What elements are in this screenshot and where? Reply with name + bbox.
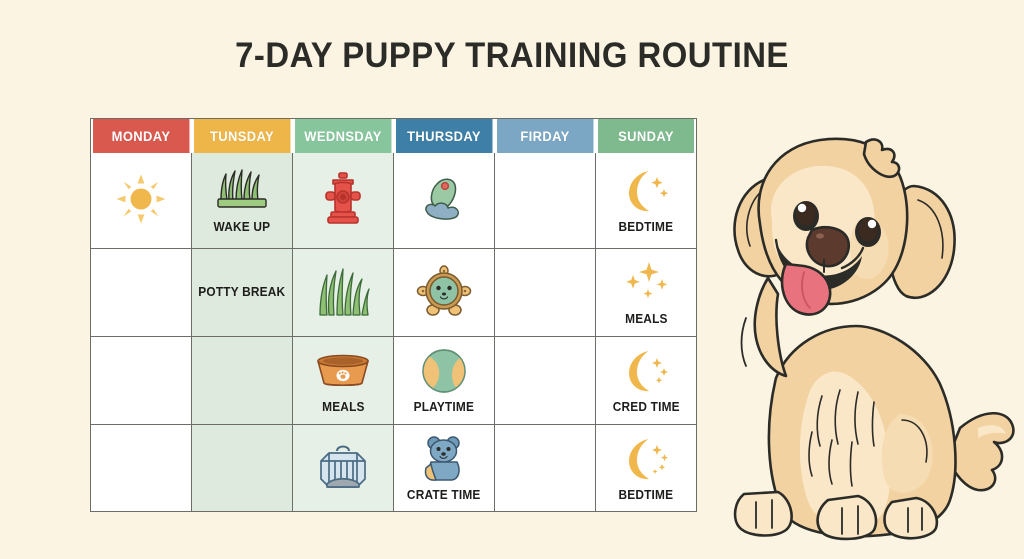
day-column-thursday: PLAYTIME — [394, 153, 495, 511]
cell-label: WAKE UP — [214, 220, 271, 234]
schedule-cell[interactable]: POTTY BREAK — [192, 249, 292, 338]
crate-icon — [313, 441, 373, 493]
schedule-cell[interactable] — [91, 337, 191, 425]
schedule-cell[interactable] — [495, 249, 595, 338]
ball-icon — [419, 345, 469, 397]
schedule-cell[interactable]: BEDTIME — [596, 425, 696, 511]
column-header-friday: FIRDAY — [497, 119, 594, 153]
schedule-cell[interactable]: MEALS — [293, 337, 393, 425]
column-header-sunday: SUNDAY — [598, 119, 694, 153]
cell-label: POTTY BREAK — [199, 285, 286, 299]
cell-label: BEDTIME — [619, 220, 674, 234]
column-header-tuesday: TUNSDAY — [194, 119, 291, 153]
schedule-cell[interactable] — [91, 425, 191, 511]
column-header-monday: MONDAY — [93, 119, 190, 153]
table-header-row: MONDAY TUNSDAY WEDNSDAY THURSDAY FIRDAY … — [91, 119, 696, 153]
cell-label: MEALS — [625, 312, 668, 326]
sun-icon — [114, 173, 168, 225]
column-header-label: TUNSDAY — [210, 129, 274, 144]
column-header-label: FIRDAY — [520, 129, 569, 144]
moon-stars-icon — [619, 433, 673, 485]
grass-icon — [211, 165, 273, 217]
day-column-sunday: BEDTIME MEALS — [596, 153, 696, 511]
moon-stars-icon — [619, 345, 673, 397]
bear-toy-icon — [418, 433, 470, 485]
schedule-cell[interactable]: PLAYTIME — [394, 337, 494, 425]
moon-stars-icon — [619, 165, 673, 217]
schedule-cell[interactable] — [495, 337, 595, 425]
schedule-cell[interactable]: WAKE UP — [192, 153, 292, 249]
column-header-label: THURSDAY — [407, 129, 481, 144]
cell-label: CRATE TIME — [407, 488, 481, 502]
day-column-monday — [91, 153, 192, 511]
column-header-label: MONDAY — [112, 129, 171, 144]
fire-hydrant-icon — [321, 173, 365, 225]
schedule-cell[interactable] — [192, 337, 292, 425]
cell-label: PLAYTIME — [414, 400, 474, 414]
turtle-toy-icon — [416, 266, 472, 318]
day-column-tuesday: WAKE UP POTTY BREAK — [192, 153, 293, 511]
table-body: WAKE UP POTTY BREAK — [91, 153, 696, 511]
golden-retriever-puppy-illustration — [716, 128, 1024, 552]
cell-label: CRED TIME — [612, 400, 679, 414]
column-header-wednesday: WEDNSDAY — [295, 119, 392, 153]
page-title: 7-DAY PUPPY TRAINING ROUTINE — [31, 36, 994, 76]
schedule-cell[interactable]: CRATE TIME — [394, 425, 494, 511]
schedule-cell[interactable]: CRED TIME — [596, 337, 696, 425]
food-bowl-icon — [312, 345, 374, 397]
sparkles-icon — [619, 257, 673, 309]
schedule-cell[interactable] — [394, 153, 494, 249]
schedule-cell[interactable] — [394, 249, 494, 338]
schedule-cell[interactable] — [192, 425, 292, 511]
squeaky-toy-icon — [415, 173, 473, 225]
schedule-cell[interactable] — [495, 425, 595, 511]
cell-label: MEALS — [322, 400, 365, 414]
cell-label: BEDTIME — [619, 488, 674, 502]
schedule-cell[interactable] — [91, 153, 191, 249]
schedule-cell[interactable] — [91, 249, 191, 338]
column-header-thursday: THURSDAY — [396, 119, 493, 153]
schedule-cell[interactable]: MEALS — [596, 249, 696, 338]
weekly-schedule-table: MONDAY TUNSDAY WEDNSDAY THURSDAY FIRDAY … — [90, 118, 697, 512]
column-header-label: SUNDAY — [618, 129, 674, 144]
column-header-label: WEDNSDAY — [304, 129, 381, 144]
day-column-friday — [495, 153, 596, 511]
day-column-wednesday: MEALS — [293, 153, 394, 511]
schedule-cell[interactable]: BEDTIME — [596, 153, 696, 249]
schedule-cell[interactable] — [293, 153, 393, 249]
schedule-cell[interactable] — [293, 425, 393, 511]
poster-canvas: 7-DAY PUPPY TRAINING ROUTINE MONDAY TUNS… — [0, 0, 1024, 559]
schedule-cell[interactable] — [293, 249, 393, 338]
schedule-cell[interactable] — [495, 153, 595, 249]
grass-tall-icon — [312, 266, 374, 318]
